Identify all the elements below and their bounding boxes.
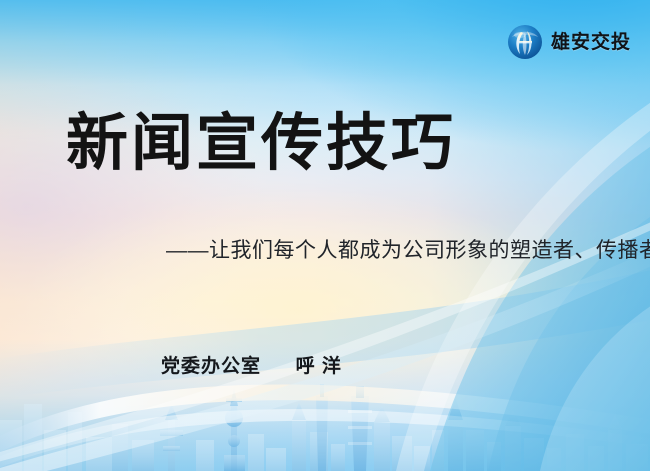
byline-presenter: 呼 洋 xyxy=(296,356,342,377)
slide-title: 新闻宣传技巧 xyxy=(66,110,456,178)
title-slide: 雄安交投 新闻宣传技巧 ——让我们每个人都成为公司形象的塑造者、传播者 党委办公… xyxy=(0,0,650,471)
brand-logo: 雄安交投 xyxy=(507,24,631,60)
brand-wordmark: 雄安交投 xyxy=(551,33,631,52)
blue-ribbon-graphic xyxy=(0,0,650,471)
byline-department: 党委办公室 xyxy=(161,356,261,377)
slide-subtitle: ——让我们每个人都成为公司形象的塑造者、传播者 xyxy=(166,238,650,263)
globe-emblem-icon xyxy=(507,24,543,60)
slide-byline: 党委办公室 呼 洋 xyxy=(161,356,342,379)
